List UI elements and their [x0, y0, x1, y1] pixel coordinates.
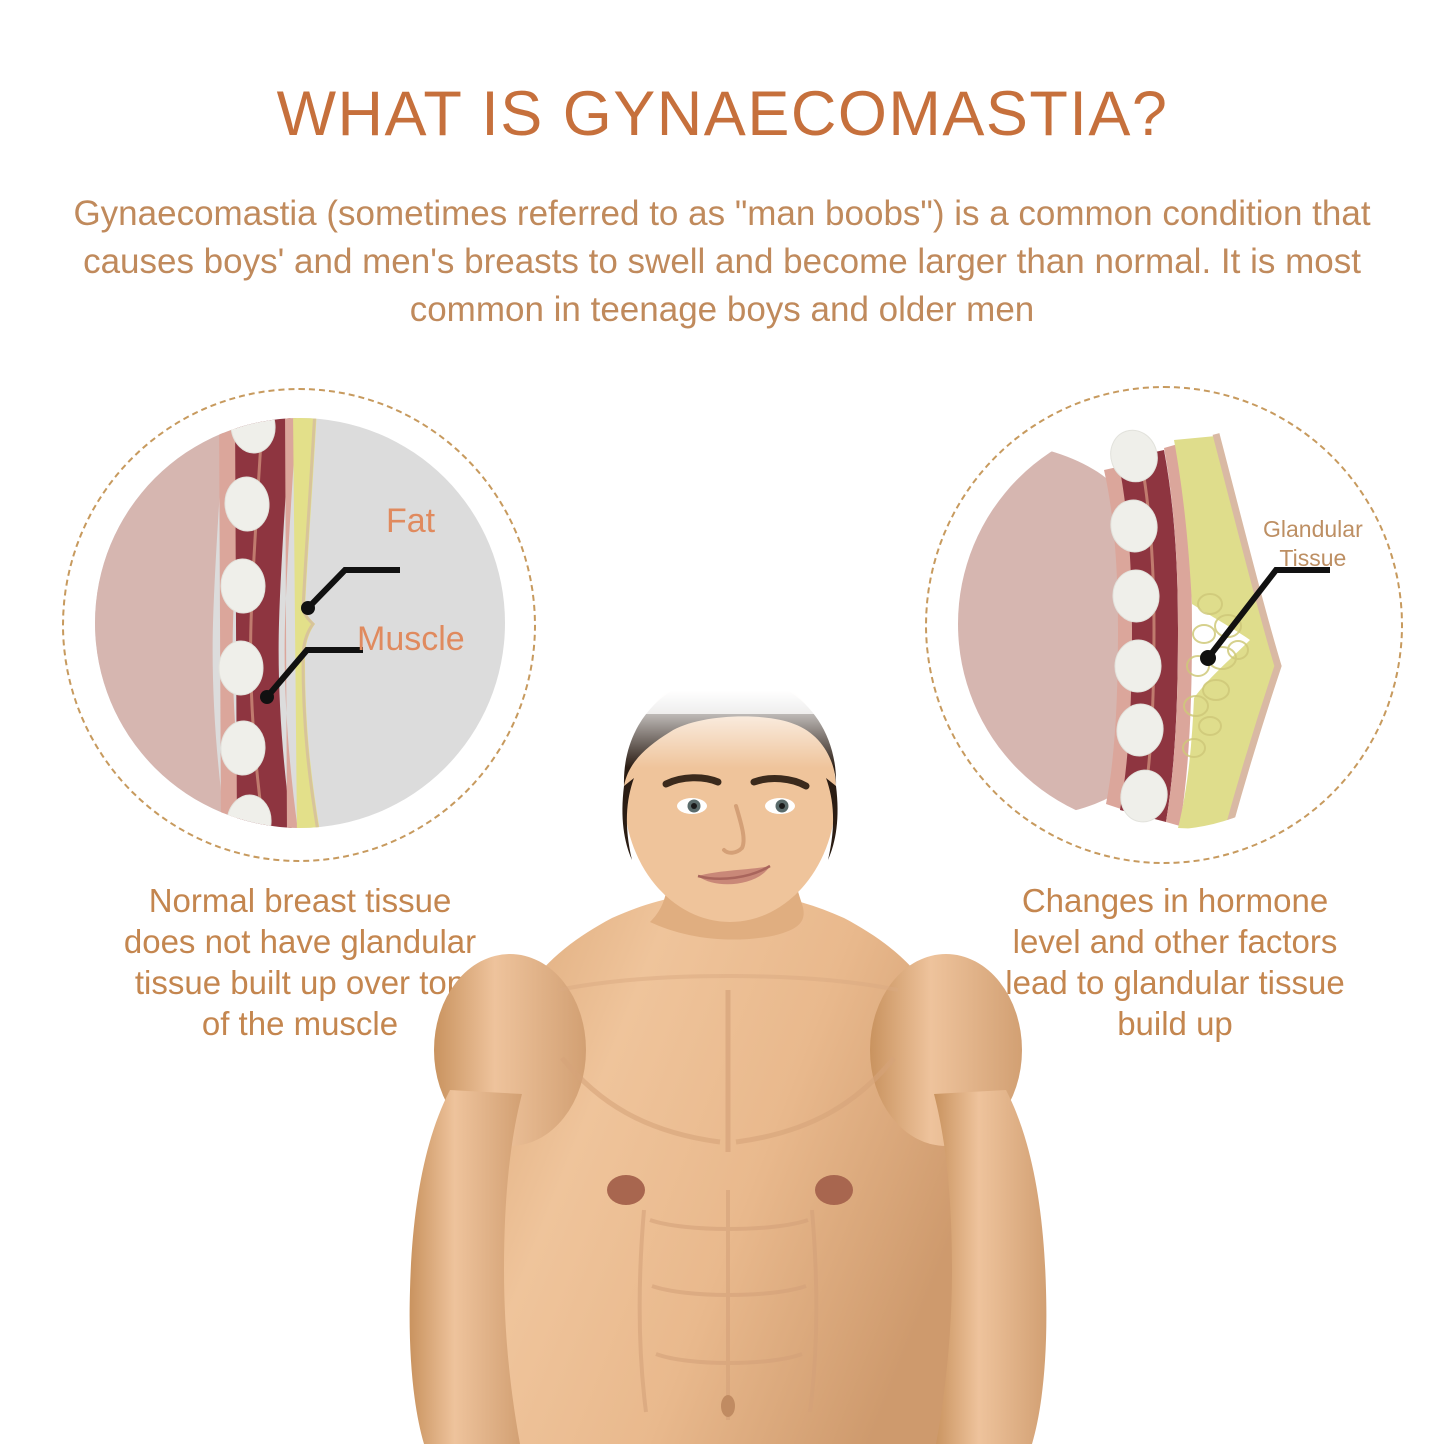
right-pupil — [779, 803, 785, 809]
leader-dot-glandular — [1200, 650, 1216, 666]
leader-line-muscle — [267, 650, 363, 697]
intro-paragraph: Gynaecomastia (sometimes referred to as … — [72, 190, 1372, 334]
navel — [721, 1395, 735, 1417]
infographic-canvas: WHAT IS GYNAECOMASTIA? Gynaecomastia (so… — [0, 0, 1445, 1444]
left-pupil — [691, 803, 697, 809]
leader-line-fat — [308, 570, 400, 608]
man-photo-svg — [398, 690, 1058, 1444]
head-crop-top — [578, 690, 908, 714]
page-title: WHAT IS GYNAECOMASTIA? — [0, 78, 1445, 150]
leader-dot-muscle — [260, 690, 274, 704]
label-fat: Fat — [386, 502, 435, 541]
fat-layer-left — [293, 418, 321, 828]
shirtless-man-torso-photo — [398, 690, 1058, 1444]
left-nipple — [607, 1175, 645, 1205]
label-muscle: Muscle — [357, 620, 465, 659]
leader-dot-fat — [301, 601, 315, 615]
right-nipple — [815, 1175, 853, 1205]
label-glandular-tissue: Glandular Tissue — [1263, 515, 1363, 573]
